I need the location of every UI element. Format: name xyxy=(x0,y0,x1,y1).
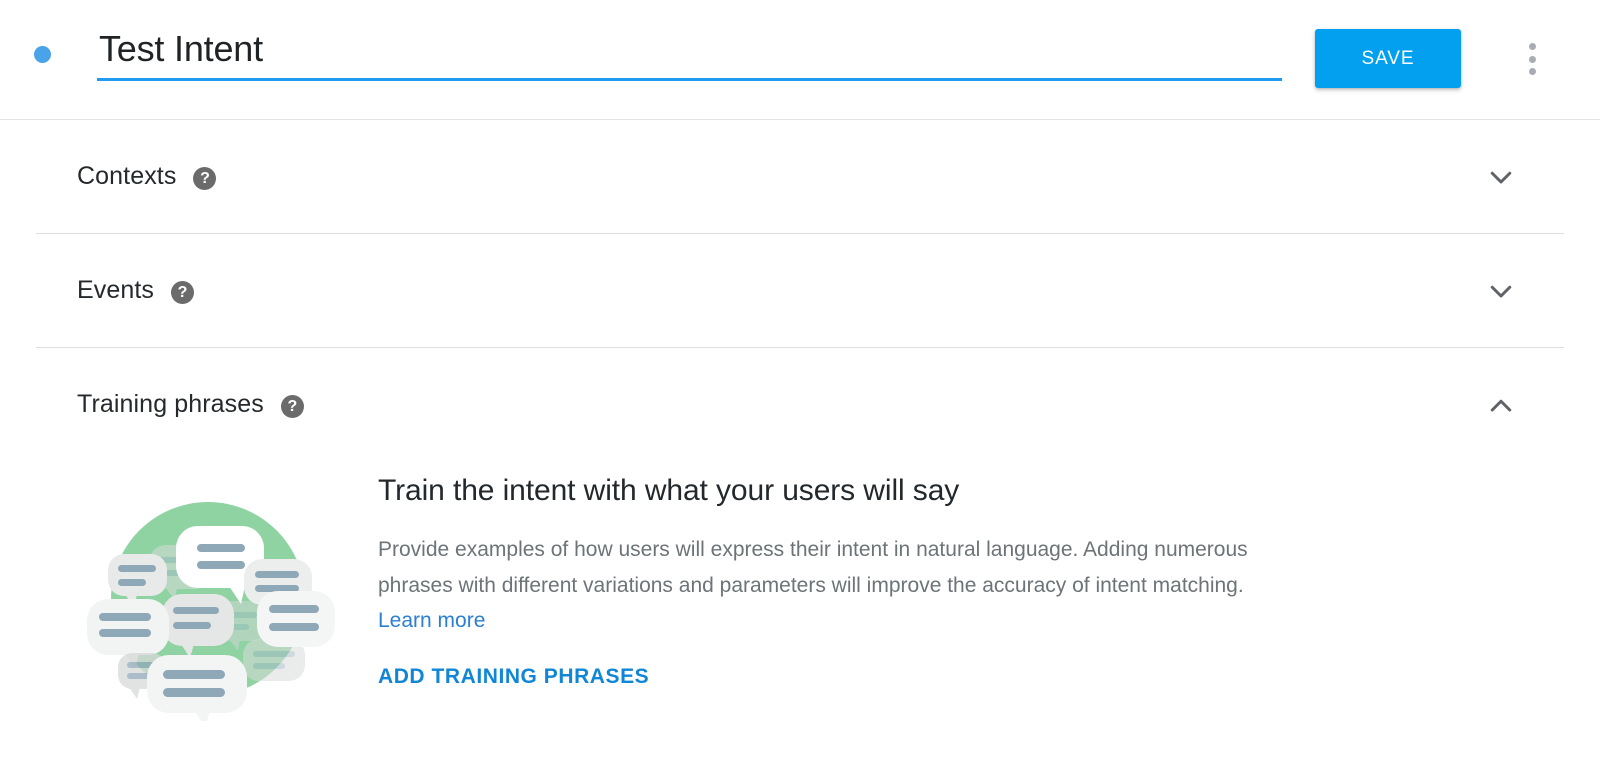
section-title-training-phrases: Training phrases xyxy=(77,390,264,419)
chevron-down-icon[interactable] xyxy=(1486,162,1516,192)
speech-bubbles-illustration xyxy=(77,471,339,721)
chevron-up-icon[interactable] xyxy=(1486,390,1516,420)
section-events: Events ? xyxy=(36,233,1564,347)
kebab-dot xyxy=(1529,68,1536,75)
sidebar-item-contexts[interactable]: Contexts ? xyxy=(36,120,1564,233)
sidebar-item-training-phrases[interactable]: Training phrases ? xyxy=(36,348,1564,461)
training-phrases-description: Provide examples of how users will expre… xyxy=(378,532,1258,639)
kebab-dot xyxy=(1529,43,1536,50)
intent-title-field xyxy=(97,26,1282,81)
learn-more-link[interactable]: Learn more xyxy=(378,609,485,632)
sections-container: Contexts ? Events ? xyxy=(0,120,1600,721)
training-phrases-empty-state: Train the intent with what your users wi… xyxy=(36,461,1564,721)
kebab-dot xyxy=(1529,56,1536,63)
training-phrases-copy: Train the intent with what your users wi… xyxy=(339,461,1564,689)
help-icon[interactable]: ? xyxy=(193,167,216,190)
intent-name-input[interactable] xyxy=(97,26,1282,78)
section-contexts: Contexts ? xyxy=(36,120,1564,233)
section-title-contexts: Contexts xyxy=(77,162,176,191)
page-header: SAVE xyxy=(0,0,1600,120)
intent-status-dot xyxy=(34,46,51,63)
chevron-down-icon[interactable] xyxy=(1486,276,1516,306)
help-icon[interactable]: ? xyxy=(281,395,304,418)
section-training-phrases: Training phrases ? xyxy=(36,347,1564,721)
description-text: Provide examples of how users will expre… xyxy=(378,538,1248,597)
intent-name-underline xyxy=(97,78,1282,81)
sidebar-item-events[interactable]: Events ? xyxy=(36,234,1564,347)
more-vert-icon[interactable] xyxy=(1516,40,1548,78)
section-title-events: Events xyxy=(77,276,154,305)
add-training-phrases-button[interactable]: ADD TRAINING PHRASES xyxy=(378,665,649,689)
help-icon[interactable]: ? xyxy=(171,281,194,304)
intent-editor-page: SAVE Contexts ? Events ? xyxy=(0,0,1600,771)
page-title: Train the intent with what your users wi… xyxy=(378,472,1564,510)
save-button[interactable]: SAVE xyxy=(1315,29,1461,88)
